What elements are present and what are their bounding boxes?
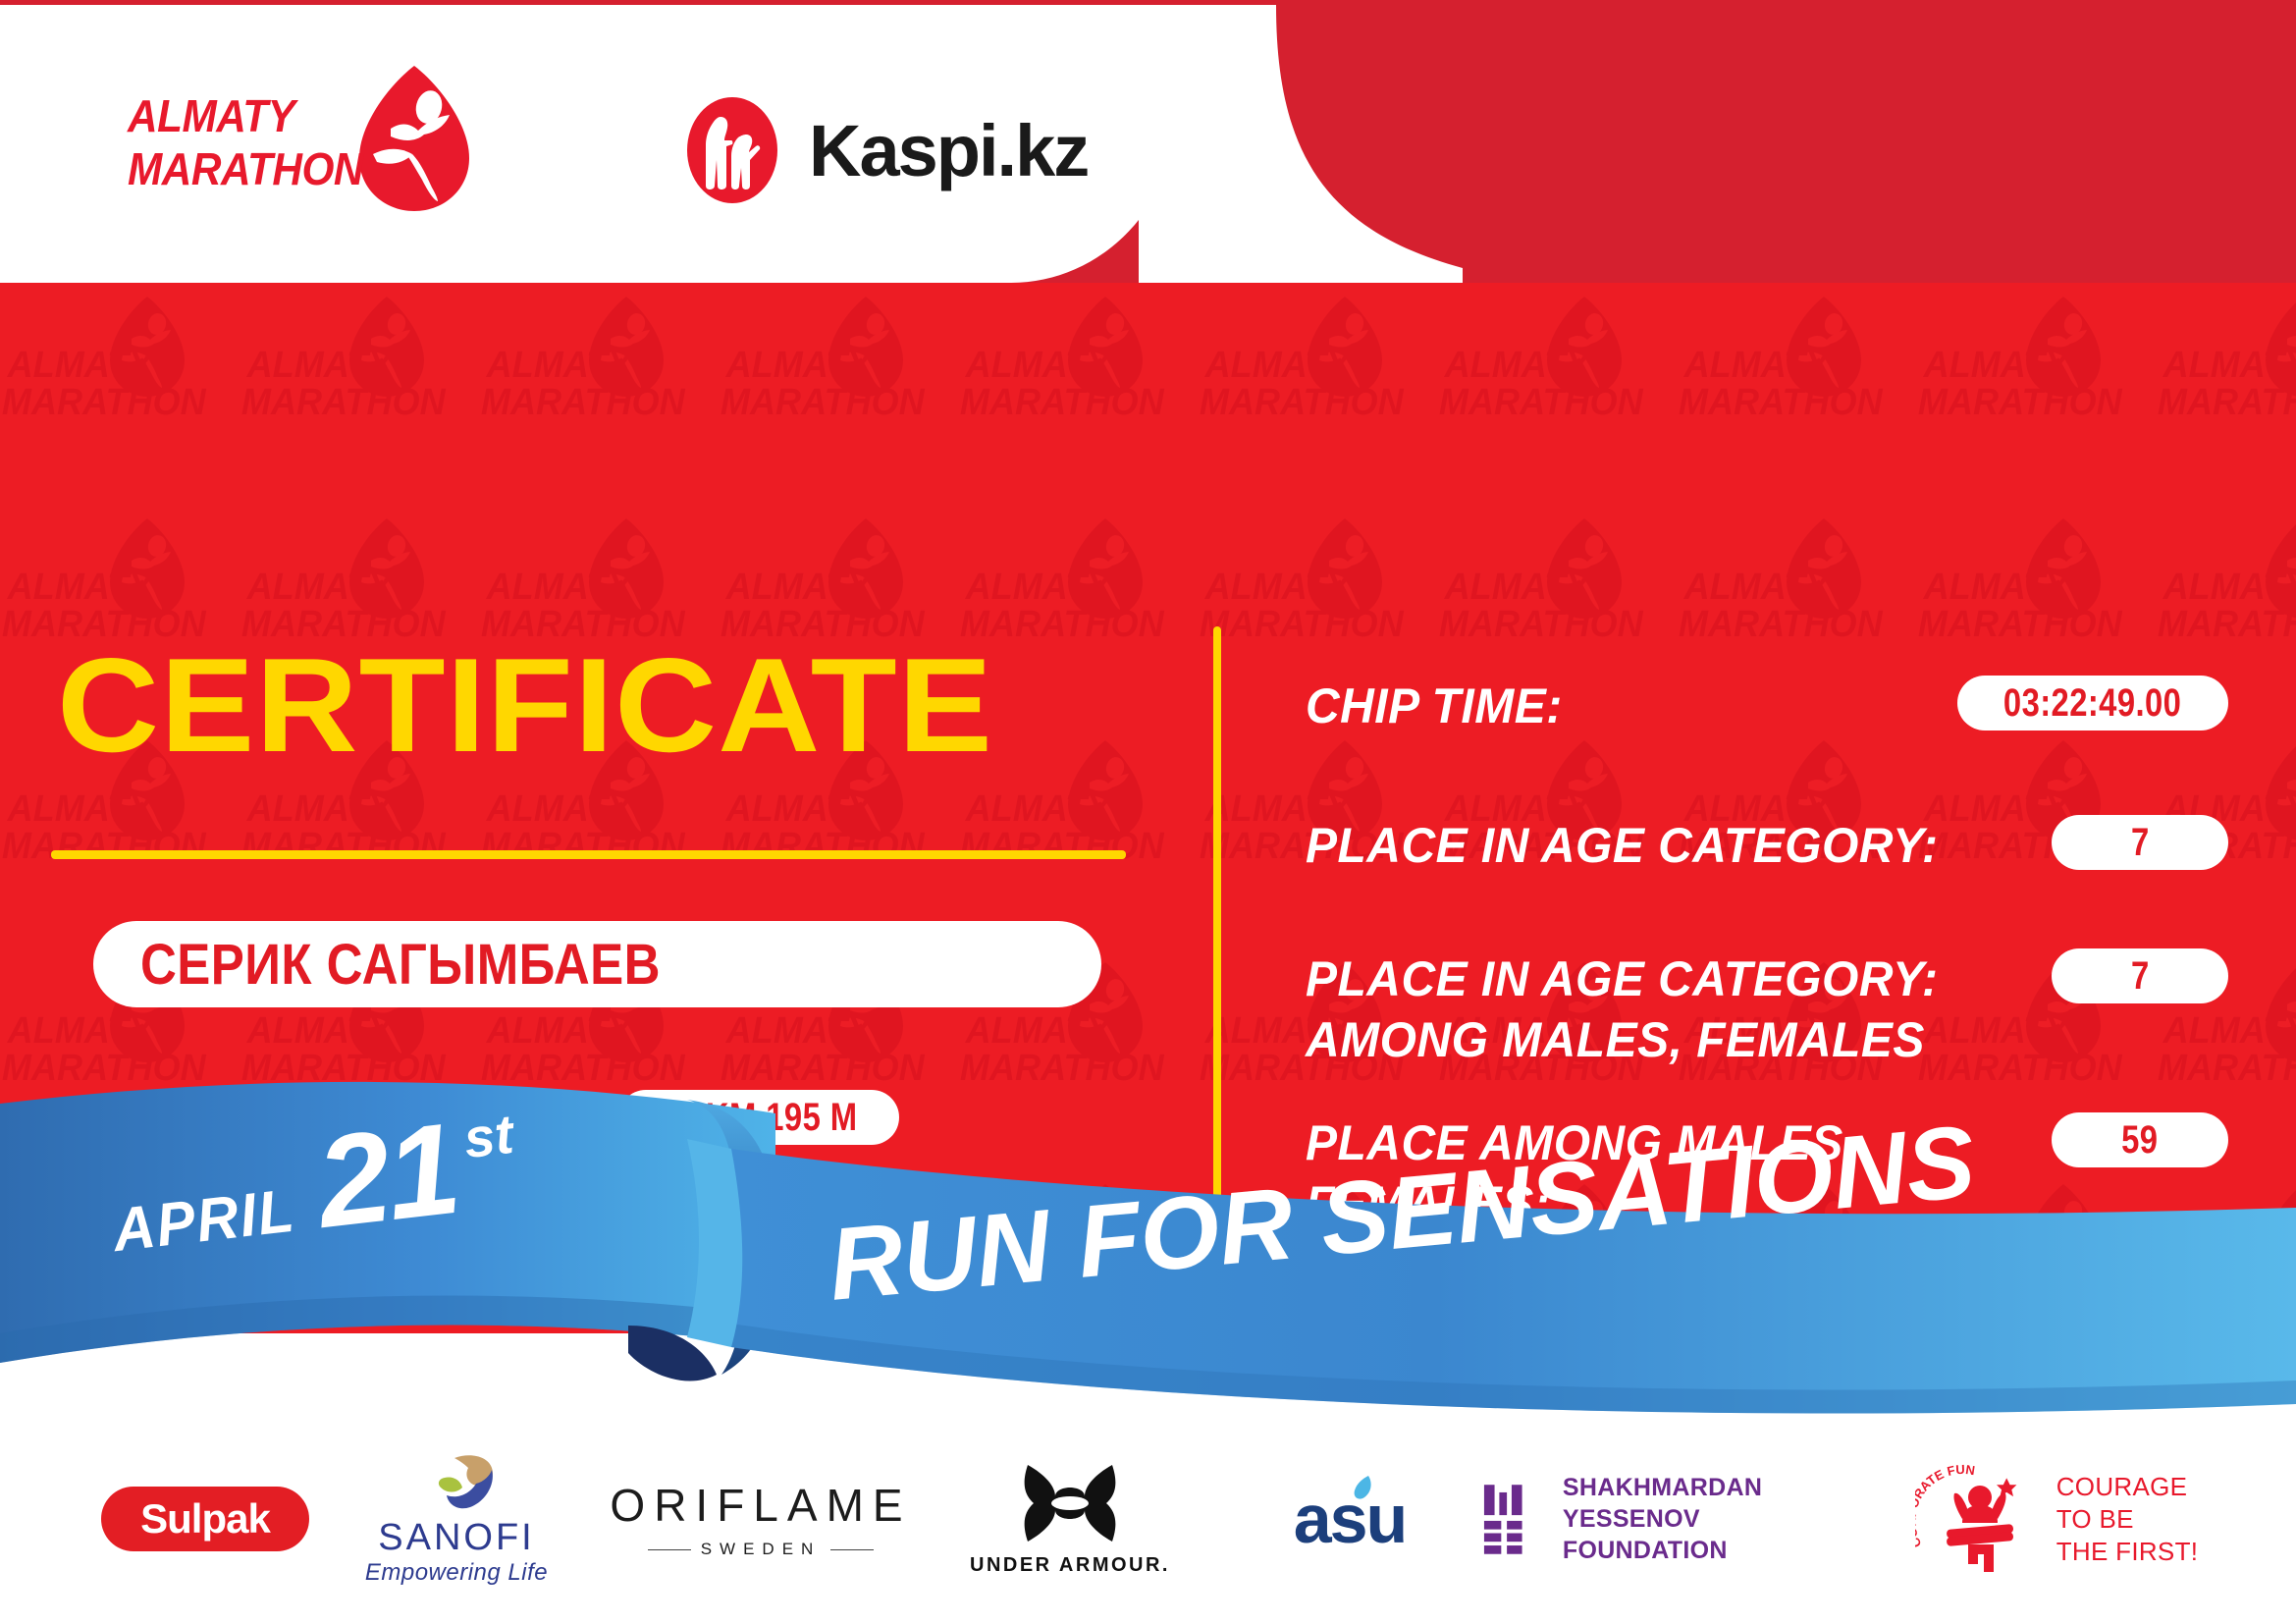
title-underline — [51, 850, 1126, 859]
logo-line-1: ALMATY — [128, 89, 371, 142]
field-chip-time-pill: 03:22:49.00 — [1957, 676, 2228, 731]
under-armour-label: UNDER ARMOUR. — [970, 1554, 1170, 1577]
sponsor-logo-asu: asu — [1217, 1480, 1482, 1558]
kaspi-logo: Kaspi.kz — [677, 95, 1088, 205]
sponsor-logo-oriflame: ORIFLAME SWEDEN — [599, 1479, 923, 1559]
athlete-name-value: СЕРИК САГЫМБАЕВ — [140, 932, 661, 998]
sponsor-bar: Sulpak SANOFI Empowering Life ORIFLAME — [0, 1414, 2296, 1624]
sponsor-logo-sanofi: SANOFI Empowering Life — [314, 1452, 599, 1587]
field-place-age-category-pill: 7 — [2052, 815, 2228, 870]
asu-droplet-icon — [1351, 1474, 1374, 1501]
field-chip-time-value: 03:22:49.00 — [2003, 681, 2181, 726]
kaspi-wordmark: Kaspi.kz — [809, 109, 1088, 192]
header-bar: ALMATY MARATHON Kaspi.kz — [0, 5, 2296, 283]
sanofi-label: SANOFI — [365, 1518, 548, 1557]
sulpak-label: Sulpak — [140, 1495, 270, 1543]
ribbon-ordinal: st — [460, 1102, 516, 1170]
oriflame-label: ORIFLAME — [610, 1479, 911, 1532]
field-place-age-category: PLACE IN AGE CATEGORY: 7 — [1306, 815, 2228, 876]
yessenov-block: SHAKHMARDAN YESSENOV FOUNDATION — [1482, 1472, 1895, 1566]
athlete-name-field: СЕРИК САГЫМБАЕВ — [93, 921, 1101, 1007]
courage-figure-icon: CORPORATE FUND — [1915, 1462, 2041, 1576]
under-armour-icon — [1012, 1461, 1128, 1545]
field-place-age-category-among-label: PLACE IN AGE CATEGORY: AMONG MALES, FEMA… — [1306, 948, 2004, 1070]
logo-line-2: MARATHON — [128, 142, 371, 195]
oriflame-rule-right — [830, 1549, 874, 1550]
oriflame-sub: SWEDEN — [701, 1540, 822, 1559]
ribbon-day: 21 — [312, 1114, 461, 1237]
sponsor-logo-under-armour: UNDER ARMOUR. — [923, 1461, 1217, 1577]
asu-block: asu — [1294, 1480, 1407, 1558]
under-armour-block: UNDER ARMOUR. — [970, 1461, 1170, 1577]
sulpak-pill: Sulpak — [101, 1487, 309, 1551]
field-place-age-category-among: PLACE IN AGE CATEGORY: AMONG MALES, FEMA… — [1306, 948, 2228, 1070]
oriflame-rule-left — [648, 1549, 691, 1550]
certificate-canvas: ALMATY MARATHON Kaspi.kz — [0, 0, 2296, 1624]
yessenov-line-1: SHAKHMARDAN YESSENOV — [1563, 1472, 1895, 1535]
courage-line-2: TO BE — [2056, 1503, 2199, 1536]
sponsor-logo-yessenov: SHAKHMARDAN YESSENOV FOUNDATION — [1482, 1472, 1895, 1566]
field-place-age-category-label: PLACE IN AGE CATEGORY: — [1306, 815, 2004, 876]
sponsor-logo-courage: CORPORATE FUND COURAGE TO BE THE FIRST! — [1895, 1462, 2218, 1576]
yessenov-text: SHAKHMARDAN YESSENOV FOUNDATION — [1563, 1472, 1895, 1566]
courage-block: CORPORATE FUND COURAGE TO BE THE FIRST! — [1915, 1462, 2199, 1576]
page-title: CERTIFICATE — [57, 646, 993, 764]
field-place-age-category-among-pill: 7 — [2052, 948, 2228, 1003]
courage-line-1: COURAGE — [2056, 1471, 2199, 1503]
almaty-marathon-logo: ALMATY MARATHON — [128, 64, 452, 221]
field-chip-time: CHIP TIME: 03:22:49.00 — [1306, 676, 2228, 736]
field-place-age-category-value: 7 — [2131, 821, 2150, 865]
courage-line-3: THE FIRST! — [2056, 1536, 2199, 1568]
courage-text: COURAGE TO BE THE FIRST! — [2056, 1471, 2199, 1568]
field-chip-time-label: CHIP TIME: — [1306, 676, 1914, 736]
header-curve-shape — [1139, 5, 1463, 283]
ribbon-month: APRIL — [109, 1176, 298, 1267]
yessenov-line-2: FOUNDATION — [1563, 1535, 1895, 1566]
sanofi-bird-icon — [415, 1452, 498, 1513]
field-place-age-category-among-value: 7 — [2131, 954, 2150, 999]
sanofi-tagline: Empowering Life — [365, 1559, 548, 1587]
oriflame-sub-row: SWEDEN — [610, 1540, 911, 1559]
sponsor-logo-sulpak: Sulpak — [0, 1487, 314, 1551]
almaty-marathon-wordmark: ALMATY MARATHON — [128, 89, 393, 195]
kaspi-people-icon — [677, 95, 787, 205]
yessenov-bars-icon — [1482, 1482, 1541, 1556]
sanofi-block: SANOFI Empowering Life — [365, 1452, 548, 1587]
oriflame-block: ORIFLAME SWEDEN — [610, 1479, 911, 1559]
